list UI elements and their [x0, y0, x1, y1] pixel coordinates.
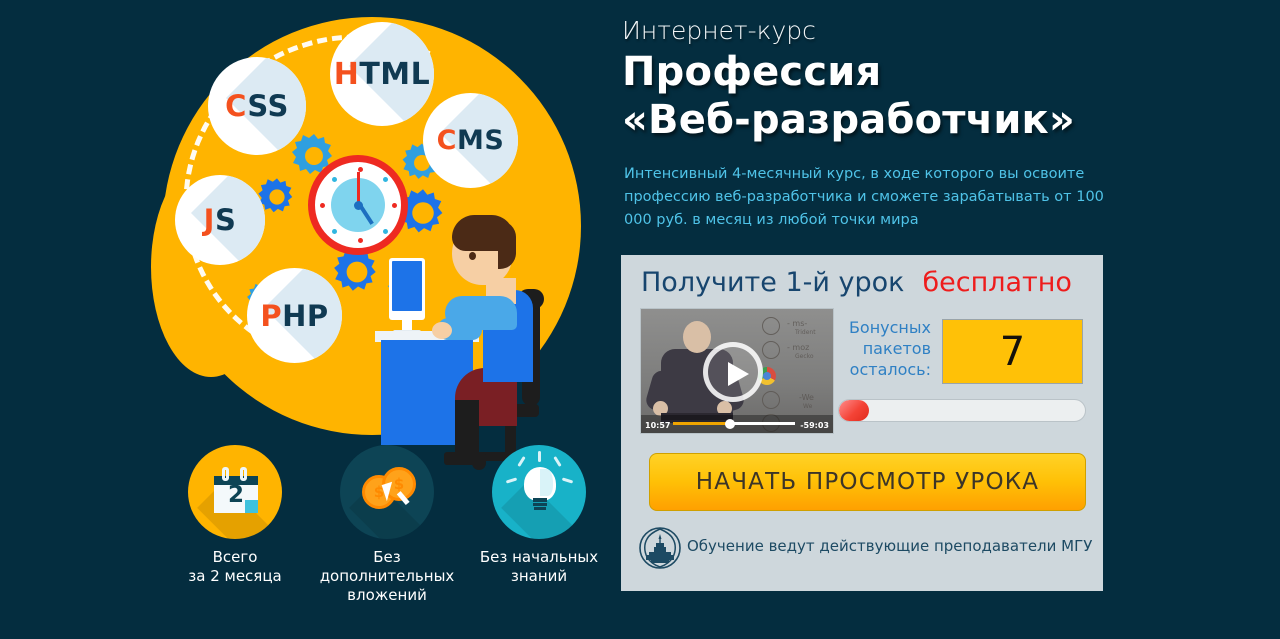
feature-label-line1: Без дополнительных: [312, 548, 462, 586]
msu-emblem-icon: [639, 527, 681, 569]
feature-label-line2: знаний: [464, 567, 614, 586]
right-column: Интернет-курс Профессия «Веб-разработчик…: [620, 0, 1280, 639]
bonus-label: Бонусных пакетов осталось:: [835, 317, 931, 380]
bonus-label-line2: пакетов: [835, 338, 931, 359]
tech-bubble-cms: CMS: [423, 93, 518, 188]
landing-page: CSS HTML CMS JS PHP: [0, 0, 1280, 639]
tech-bubble-css: CSS: [208, 57, 306, 155]
course-description: Интенсивный 4-месячный курс, в ходе кото…: [624, 163, 1124, 232]
feature-item-no-extra-cost: $ $ Без дополнительных вложений: [312, 445, 462, 605]
panel-heading: Получите 1-й урокбесплатно: [641, 267, 1072, 298]
video-time-remaining: -59:03: [800, 421, 829, 430]
tech-bubble-js: JS: [175, 175, 265, 265]
tech-bubble-html-rest: TML: [359, 57, 430, 92]
person-hand: [432, 322, 452, 339]
lightbulb-icon: [492, 445, 586, 539]
tech-bubble-cms-first: C: [437, 125, 457, 156]
bonus-progress-fill: [839, 400, 869, 421]
page-title: Профессия «Веб-разработчик»: [622, 48, 1262, 144]
clock-globe-icon: [308, 155, 408, 255]
msu-note: Обучение ведут действующие преподаватели…: [687, 537, 1092, 555]
page-title-line1: Профессия: [622, 48, 1262, 96]
tech-bubble-css-rest: SS: [247, 89, 288, 123]
panel-heading-free: бесплатно: [922, 267, 1071, 298]
lesson-signup-panel: Получите 1-й урокбесплатно - ms- Trident…: [621, 255, 1103, 591]
calendar-icon: 2: [188, 445, 282, 539]
bonus-label-line3: осталось:: [835, 359, 931, 380]
bonus-progress-bar: [838, 399, 1086, 422]
feature-label-line2: за 2 месяца: [160, 567, 310, 586]
start-lesson-button[interactable]: НАЧАТЬ ПРОСМОТР УРОКА: [649, 453, 1086, 511]
page-title-line2: «Веб-разработчик»: [622, 96, 1262, 144]
bonus-counter: 7: [942, 319, 1083, 384]
feature-list: 2 Всего за 2 месяца $ $ Без дополнительн…: [160, 445, 620, 595]
play-button-icon[interactable]: [703, 342, 763, 402]
feature-label-line1: Без начальных: [464, 548, 614, 567]
monitor-icon: [389, 258, 425, 320]
tech-bubble-css-first: C: [225, 89, 247, 123]
person-eye: [469, 252, 476, 260]
tech-bubble-php: PHP: [247, 268, 342, 363]
video-time-elapsed: 10:57: [645, 421, 670, 430]
lesson-video-thumbnail[interactable]: - ms- Trident - moz Gecko -We We 10:57 -…: [640, 308, 834, 434]
tech-bubble-cms-rest: MS: [457, 125, 504, 156]
person-hair: [452, 215, 514, 251]
tech-bubble-html: HTML: [330, 22, 434, 126]
feature-label-line2: вложений: [312, 586, 462, 605]
course-eyebrow: Интернет-курс: [622, 16, 816, 45]
bonus-label-line1: Бонусных: [835, 317, 931, 338]
feature-item-duration: 2 Всего за 2 месяца: [160, 445, 310, 586]
tech-bubble-php-rest: HP: [282, 299, 329, 333]
tech-bubble-js-rest: S: [215, 203, 236, 237]
coins-cursor-icon: $ $: [340, 445, 434, 539]
panel-heading-text: Получите 1-й урок: [641, 267, 904, 298]
tech-bubble-html-first: H: [334, 57, 360, 92]
feature-label-line1: Всего: [160, 548, 310, 567]
tech-bubble-php-first: P: [260, 299, 282, 333]
feature-item-no-prior-knowledge: Без начальных знаний: [464, 445, 614, 586]
tech-bubble-js-first: J: [204, 203, 215, 237]
